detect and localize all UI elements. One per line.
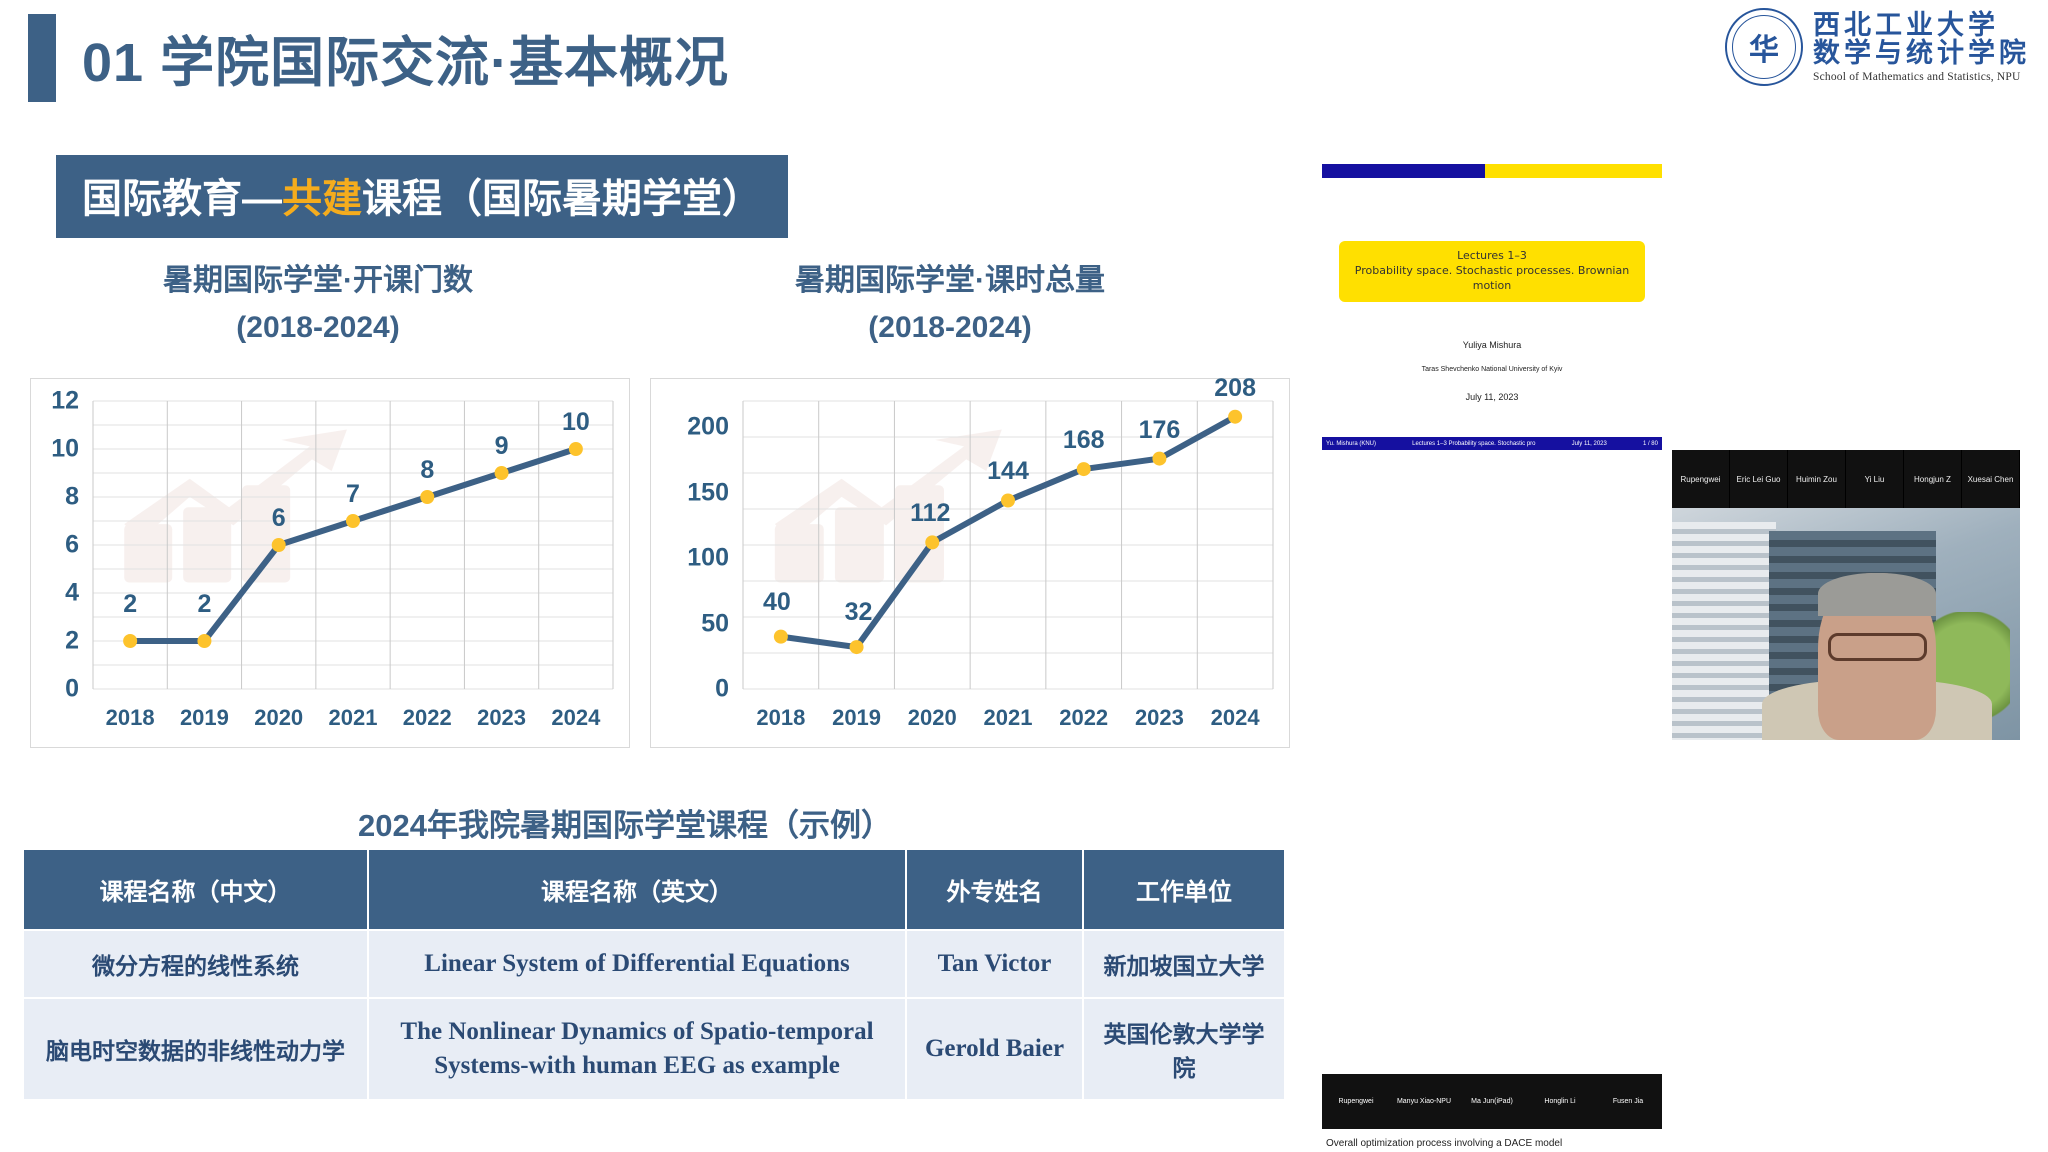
dace-participant: Honglin Li bbox=[1526, 1098, 1594, 1105]
slide-footer: Yu. Mishura (KNU) Lectures 1–3 Probabili… bbox=[1322, 437, 1662, 450]
dace-participant-strip: Rupengwei Manyu Xiao-NPU Ma Jun(iPad) Ho… bbox=[1322, 1074, 1662, 1129]
x-axis-tick: 2022 bbox=[1059, 705, 1108, 731]
x-axis-tick: 2019 bbox=[832, 705, 881, 731]
banner-highlight: 共建 bbox=[282, 177, 362, 221]
chart-data-label: 168 bbox=[1063, 426, 1105, 455]
dace-caption: Overall optimization process involving a… bbox=[1326, 1138, 1562, 1149]
zoom-participant-tile: Xuesai Chen bbox=[1962, 450, 2020, 508]
th-expert-name: 外专姓名 bbox=[906, 849, 1083, 930]
cell-course-en: The Nonlinear Dynamics of Spatio-tempora… bbox=[368, 998, 906, 1100]
chart-data-label: 2 bbox=[197, 590, 211, 619]
chart-total-hours: 0501001502002018201920202021202220232024… bbox=[650, 378, 1290, 748]
glasses-icon bbox=[1828, 633, 1927, 661]
dace-participant: Fusen Jia bbox=[1594, 1098, 1662, 1105]
zoom-participant-tile: Hongjun Z bbox=[1904, 450, 1962, 508]
logo-cn-line2: 数学与统计学院 bbox=[1813, 39, 2030, 67]
logo-en-line: School of Mathematics and Statistics, NP… bbox=[1813, 71, 2030, 83]
speaker-avatar bbox=[1818, 573, 1936, 740]
chart-data-label: 2 bbox=[123, 590, 137, 619]
dace-participant: Ma Jun(iPad) bbox=[1458, 1098, 1526, 1105]
x-axis-tick: 2021 bbox=[984, 705, 1033, 731]
chart-data-point bbox=[925, 535, 939, 549]
chart-open-courses: 0246810122018201920202021202220232024226… bbox=[30, 378, 630, 748]
slide-footer-left: Yu. Mishura (KNU) bbox=[1326, 441, 1376, 447]
slide-footer-page: 1 / 80 bbox=[1643, 441, 1658, 447]
chart-data-label: 40 bbox=[763, 588, 791, 617]
zoom-participant-tile: Huimin Zou bbox=[1788, 450, 1846, 508]
section-banner: 国际教育—共建课程（国际暑期学堂） bbox=[56, 155, 788, 238]
y-axis-tick: 6 bbox=[31, 531, 79, 560]
zoom-participant-tile: Rupengwei bbox=[1672, 450, 1730, 508]
chart1-title-block: 暑期国际学堂·开课门数 (2018-2024) bbox=[28, 258, 608, 351]
chart-data-label: 10 bbox=[562, 408, 590, 437]
chart-canvas bbox=[31, 379, 629, 747]
chart-data-point bbox=[1001, 493, 1015, 507]
x-axis-tick: 2022 bbox=[403, 705, 452, 731]
y-axis-tick: 8 bbox=[31, 483, 79, 512]
x-axis-tick: 2018 bbox=[106, 705, 155, 731]
chart-data-point bbox=[1077, 462, 1091, 476]
logo-cn-line1: 西北工业大学 bbox=[1813, 11, 2030, 39]
y-axis-tick: 200 bbox=[651, 413, 729, 442]
seal-icon: 华 bbox=[1725, 8, 1803, 86]
x-axis-tick: 2018 bbox=[756, 705, 805, 731]
chart-data-label: 9 bbox=[495, 432, 509, 461]
x-axis-tick: 2021 bbox=[329, 705, 378, 731]
th-course-en: 课程名称（英文） bbox=[368, 849, 906, 930]
chart-data-point bbox=[1152, 452, 1166, 466]
x-axis-tick: 2024 bbox=[1211, 705, 1260, 731]
chart-data-point bbox=[346, 514, 360, 528]
chart-data-label: 112 bbox=[910, 499, 950, 528]
y-axis-tick: 100 bbox=[651, 544, 729, 573]
slide-title-box: Lectures 1–3 Probability space. Stochast… bbox=[1339, 241, 1645, 302]
lecture-slide-thumbnail: Lectures 1–3 Probability space. Stochast… bbox=[1322, 160, 1662, 450]
chart1-title: 暑期国际学堂·开课门数 bbox=[28, 258, 608, 305]
chart-data-label: 8 bbox=[420, 456, 434, 485]
zoom-participant-tile: Yi Liu bbox=[1846, 450, 1904, 508]
y-axis-tick: 0 bbox=[31, 675, 79, 704]
x-axis-tick: 2020 bbox=[908, 705, 957, 731]
slide-footer-date: July 11, 2023 bbox=[1572, 441, 1607, 447]
chart-data-label: 144 bbox=[987, 457, 1029, 486]
cell-course-en: Linear System of Differential Equations bbox=[368, 930, 906, 998]
seal-mark: 华 bbox=[1749, 25, 1779, 69]
chart-data-point bbox=[774, 630, 788, 644]
banner-prefix: 国际教育— bbox=[82, 177, 282, 221]
x-axis-tick: 2019 bbox=[180, 705, 229, 731]
university-logo: 华 西北工业大学 数学与统计学院 School of Mathematics a… bbox=[1725, 8, 2030, 86]
y-axis-tick: 12 bbox=[31, 387, 79, 416]
chart-data-point bbox=[569, 442, 583, 456]
table-row: 微分方程的线性系统 Linear System of Differential … bbox=[23, 930, 1285, 998]
x-axis-tick: 2023 bbox=[477, 705, 526, 731]
chart-data-label: 208 bbox=[1214, 374, 1256, 403]
cell-organization: 新加坡国立大学 bbox=[1083, 930, 1285, 998]
chart-data-point bbox=[1228, 410, 1242, 424]
slide-root: 01 学院国际交流·基本概况 华 西北工业大学 数学与统计学院 School o… bbox=[0, 0, 2048, 1152]
banner-suffix: 课程（国际暑期学堂） bbox=[362, 177, 762, 221]
y-axis-tick: 50 bbox=[651, 609, 729, 638]
th-organization: 工作单位 bbox=[1083, 849, 1285, 930]
table-header-row: 课程名称（中文） 课程名称（英文） 外专姓名 工作单位 bbox=[23, 849, 1285, 930]
slide-caption-line2: Probability space. Stochastic processes.… bbox=[1345, 264, 1639, 294]
chart-data-label: 32 bbox=[845, 598, 873, 627]
x-axis-tick: 2024 bbox=[551, 705, 600, 731]
chart1-subtitle: (2018-2024) bbox=[28, 305, 608, 352]
y-axis-tick: 0 bbox=[651, 675, 729, 704]
y-axis-tick: 10 bbox=[31, 435, 79, 464]
chart-data-point bbox=[850, 640, 864, 654]
chart2-subtitle: (2018-2024) bbox=[640, 305, 1260, 352]
x-axis-tick: 2020 bbox=[254, 705, 303, 731]
cell-course-cn: 微分方程的线性系统 bbox=[23, 930, 368, 998]
chart2-title: 暑期国际学堂·课时总量 bbox=[640, 258, 1260, 305]
dace-diagram-screenshot: Rupengwei Manyu Xiao-NPU Ma Jun(iPad) Ho… bbox=[1322, 1074, 1662, 1152]
chart-canvas bbox=[651, 379, 1289, 747]
zoom-participant-strip: Rupengwei Eric Lei Guo Huimin Zou Yi Liu… bbox=[1672, 450, 2020, 508]
chart-data-label: 7 bbox=[346, 480, 360, 509]
chart-data-point bbox=[197, 634, 211, 648]
cell-course-cn: 脑电时空数据的非线性动力学 bbox=[23, 998, 368, 1100]
table-title: 2024年我院暑期国际学堂课程（示例） bbox=[0, 800, 1250, 845]
dace-participant: Manyu Xiao-NPU bbox=[1390, 1098, 1458, 1105]
zoom-call-screenshot: Rupengwei Eric Lei Guo Huimin Zou Yi Liu… bbox=[1672, 450, 2020, 740]
y-axis-tick: 4 bbox=[31, 579, 79, 608]
slide-date: July 11, 2023 bbox=[1322, 392, 1662, 402]
y-axis-tick: 150 bbox=[651, 478, 729, 507]
y-axis-tick: 2 bbox=[31, 627, 79, 656]
slide-footer-mid: Lectures 1–3 Probability space. Stochast… bbox=[1412, 441, 1535, 447]
course-table: 课程名称（中文） 课程名称（英文） 外专姓名 工作单位 微分方程的线性系统 Li… bbox=[22, 848, 1286, 1101]
zoom-participant-tile: Eric Lei Guo bbox=[1730, 450, 1788, 508]
cell-expert-name: Gerold Baier bbox=[906, 998, 1083, 1100]
th-course-cn: 课程名称（中文） bbox=[23, 849, 368, 930]
zoom-main-video bbox=[1672, 508, 2020, 740]
cell-organization: 英国伦敦大学学院 bbox=[1083, 998, 1285, 1100]
slide-topbar bbox=[1322, 164, 1662, 178]
chart-data-point bbox=[272, 538, 286, 552]
slide-author: Yuliya Mishura bbox=[1322, 340, 1662, 350]
chart2-title-block: 暑期国际学堂·课时总量 (2018-2024) bbox=[640, 258, 1260, 351]
cell-expert-name: Tan Victor bbox=[906, 930, 1083, 998]
chart-data-point bbox=[123, 634, 137, 648]
x-axis-tick: 2023 bbox=[1135, 705, 1184, 731]
slide-affiliation: Taras Shevchenko National University of … bbox=[1322, 366, 1662, 373]
table-row: 脑电时空数据的非线性动力学 The Nonlinear Dynamics of … bbox=[23, 998, 1285, 1100]
chart-data-label: 6 bbox=[272, 504, 286, 533]
slide-caption-line1: Lectures 1–3 bbox=[1345, 249, 1639, 264]
dace-participant: Rupengwei bbox=[1322, 1098, 1390, 1105]
page-title: 01 学院国际交流·基本概况 bbox=[82, 18, 729, 97]
chart-data-label: 176 bbox=[1139, 416, 1181, 445]
chart-data-point bbox=[495, 466, 509, 480]
chart-data-point bbox=[420, 490, 434, 504]
header-accent-bar bbox=[28, 14, 56, 102]
